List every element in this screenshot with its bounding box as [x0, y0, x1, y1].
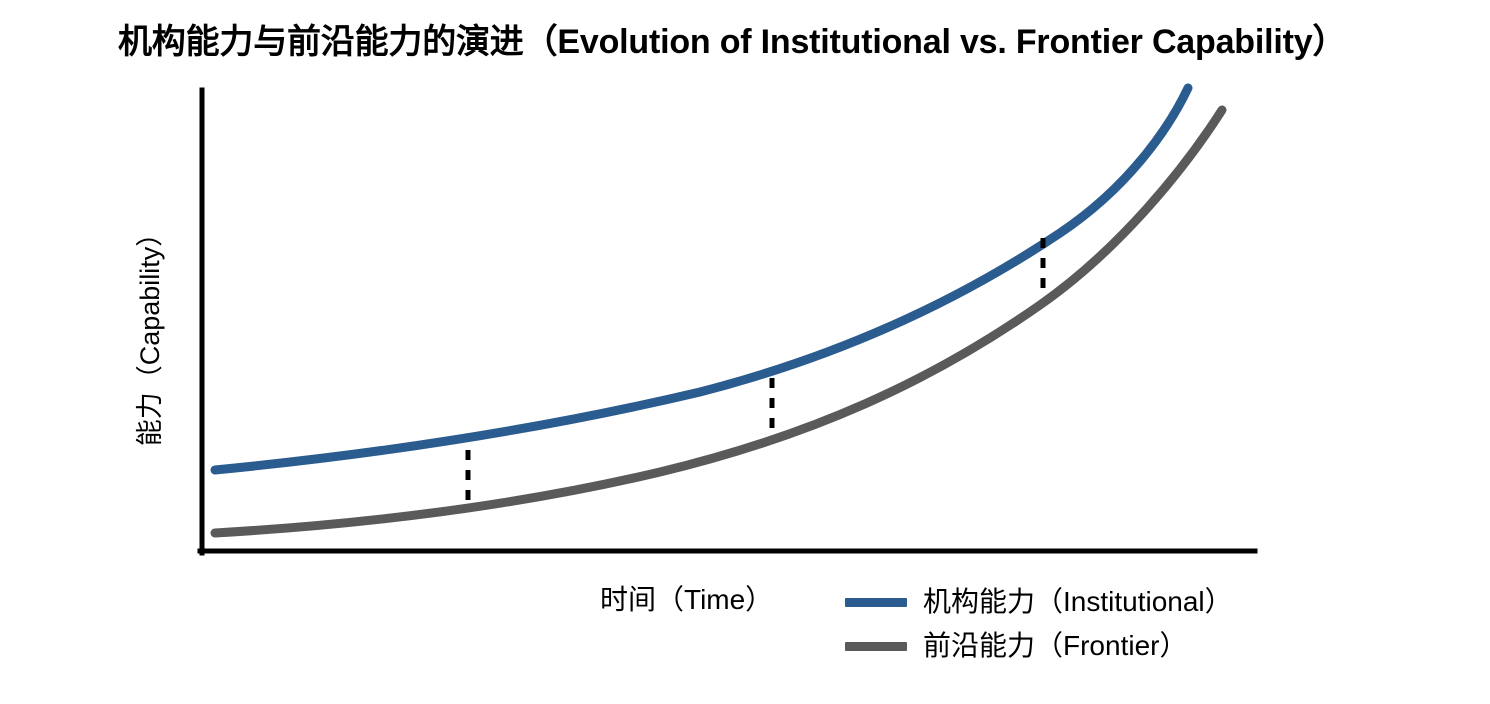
- chart-legend: 机构能力（Institutional） 前沿能力（Frontier）: [845, 580, 1233, 668]
- line-swatch-icon: [845, 642, 907, 651]
- legend-item-frontier[interactable]: 前沿能力（Frontier）: [845, 624, 1233, 668]
- legend-label-frontier: 前沿能力（Frontier）: [923, 629, 1187, 663]
- line-swatch-icon: [845, 598, 907, 607]
- legend-label-institutional: 机构能力（Institutional）: [923, 585, 1233, 619]
- legend-item-institutional[interactable]: 机构能力（Institutional）: [845, 580, 1233, 624]
- x-axis-label: 时间（Time）: [600, 582, 773, 618]
- y-axis-label: 能力（Capability）: [135, 173, 165, 493]
- chart-container: 机构能力与前沿能力的演进（Evolution of Institutional …: [0, 0, 1490, 704]
- series-line-frontier: [215, 110, 1222, 533]
